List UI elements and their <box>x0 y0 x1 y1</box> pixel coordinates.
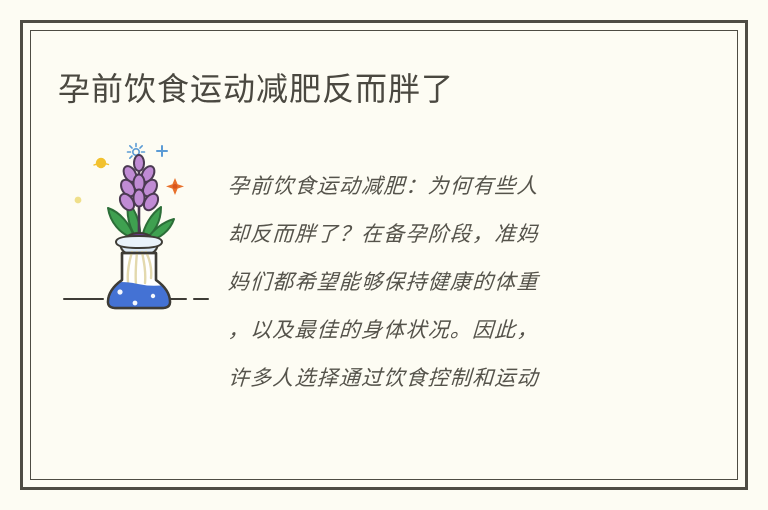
hyacinth-vase-illustration <box>58 138 213 310</box>
page-title: 孕前饮食运动减肥反而胖了 <box>58 66 454 112</box>
body-line: 孕前饮食运动减肥：为何有些人 <box>227 162 650 210</box>
body-line: 许多人选择通过饮食控制和运动 <box>227 354 650 402</box>
body-line: 却反而胖了？在备孕阶段，准妈 <box>227 210 650 258</box>
star-sparkle-icon <box>166 178 184 195</box>
dot-yellow-large-icon <box>94 158 109 168</box>
vase-neck <box>116 236 162 253</box>
flower-petals <box>117 155 161 213</box>
body-line: 妈们都希望能够保持健康的体重 <box>227 258 650 306</box>
body-line: ，以及最佳的身体状况。因此， <box>227 306 650 354</box>
article-body: 孕前饮食运动减肥：为何有些人 却反而胖了？在备孕阶段，准妈 妈们都希望能够保持健… <box>228 162 648 402</box>
plus-sparkle-icon <box>157 146 167 156</box>
article-card: 孕前饮食运动减肥反而胖了 <box>0 0 768 510</box>
dot-yellow-small-icon <box>75 197 82 204</box>
